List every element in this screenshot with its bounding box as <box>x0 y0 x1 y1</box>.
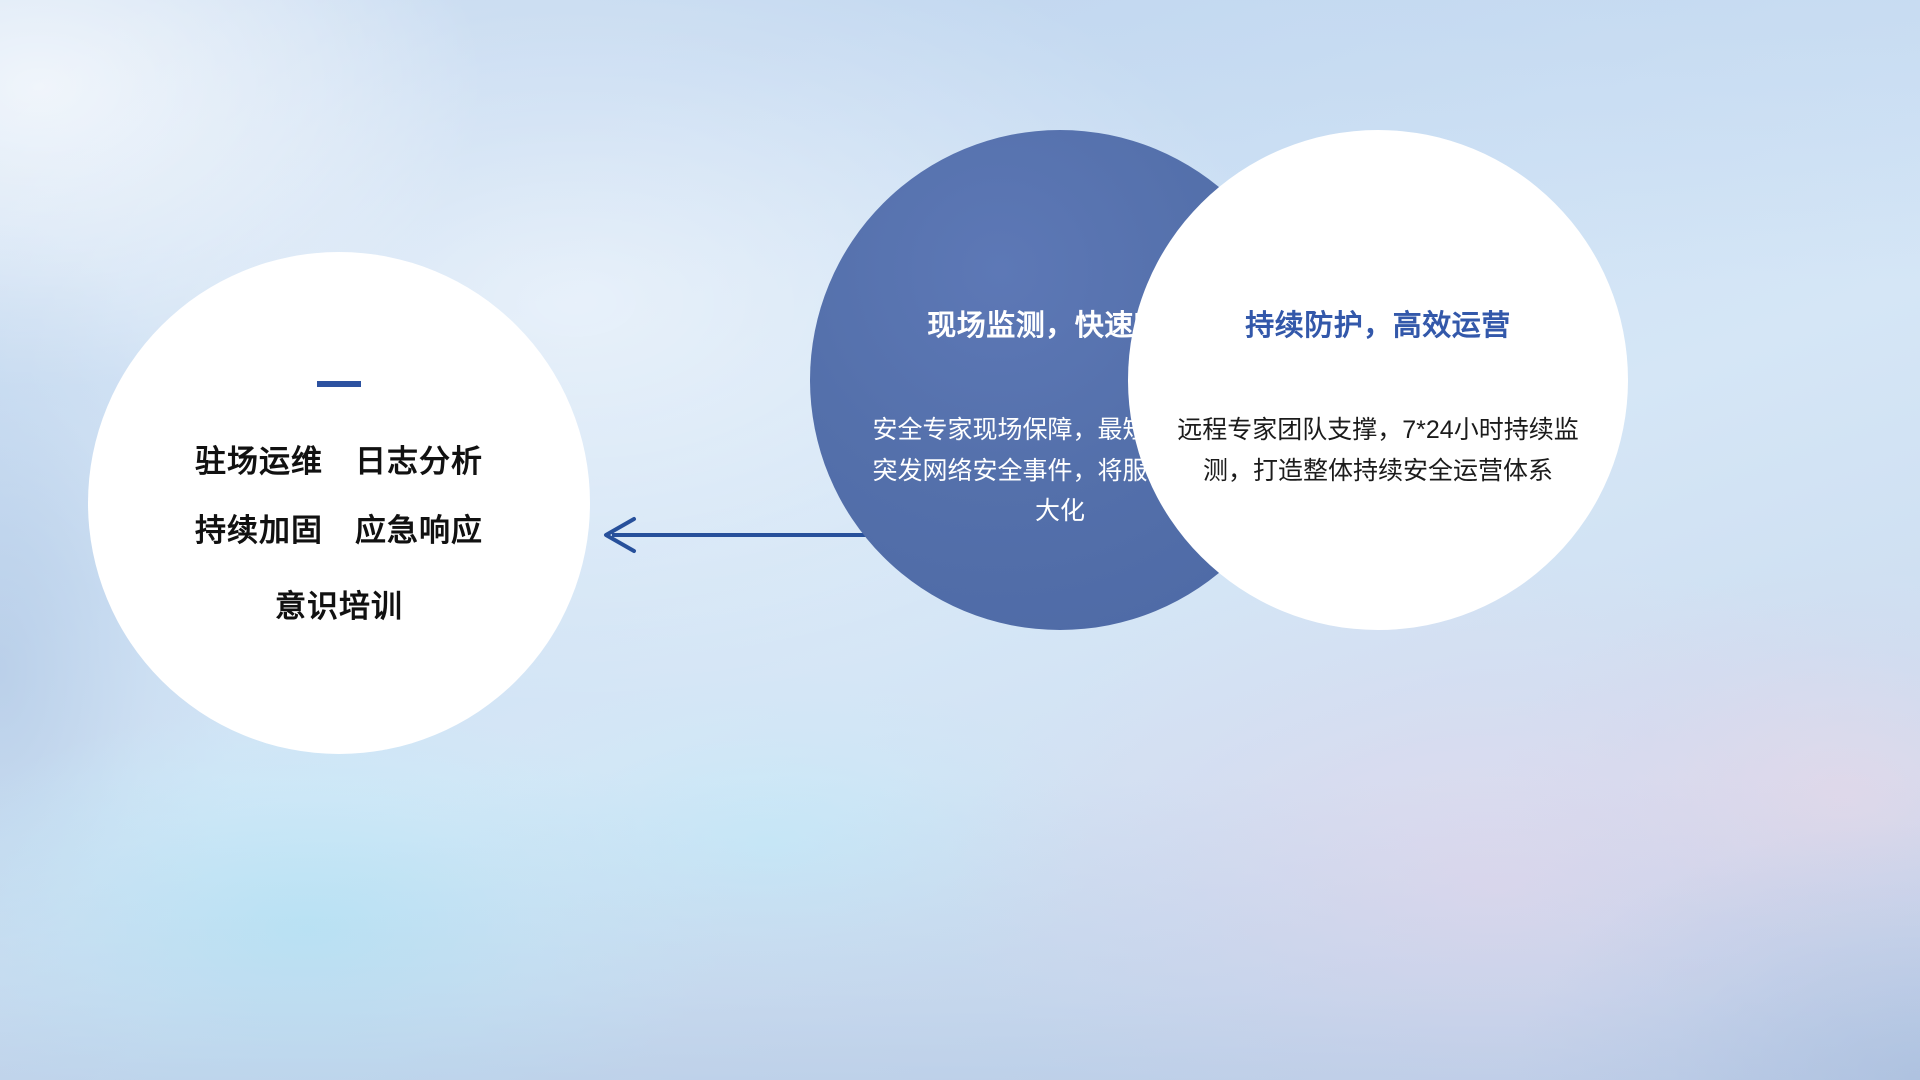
accent-divider <box>317 381 361 387</box>
capability-line-3: 意识培训 <box>275 588 403 625</box>
continuous-protection-body: 远程专家团队支撑，7*24小时持续监测，打造整体持续安全运营体系 <box>1171 410 1585 491</box>
continuous-protection-title: 持续防护，高效运营 <box>1245 302 1511 344</box>
capability-line-1: 驻场运维 日志分析 <box>195 443 483 480</box>
capabilities-content: 驻场运维 日志分析 持续加固 应急响应 意识培训 <box>88 252 590 754</box>
capability-line-2: 持续加固 应急响应 <box>195 512 483 549</box>
diagram-canvas: 驻场运维 日志分析 持续加固 应急响应 意识培训 现场监测，快速响应 安全专家现… <box>0 0 1920 1080</box>
continuous-protection-content: 持续防护，高效运营 远程专家团队支撑，7*24小时持续监测，打造整体持续安全运营… <box>1128 130 1628 630</box>
